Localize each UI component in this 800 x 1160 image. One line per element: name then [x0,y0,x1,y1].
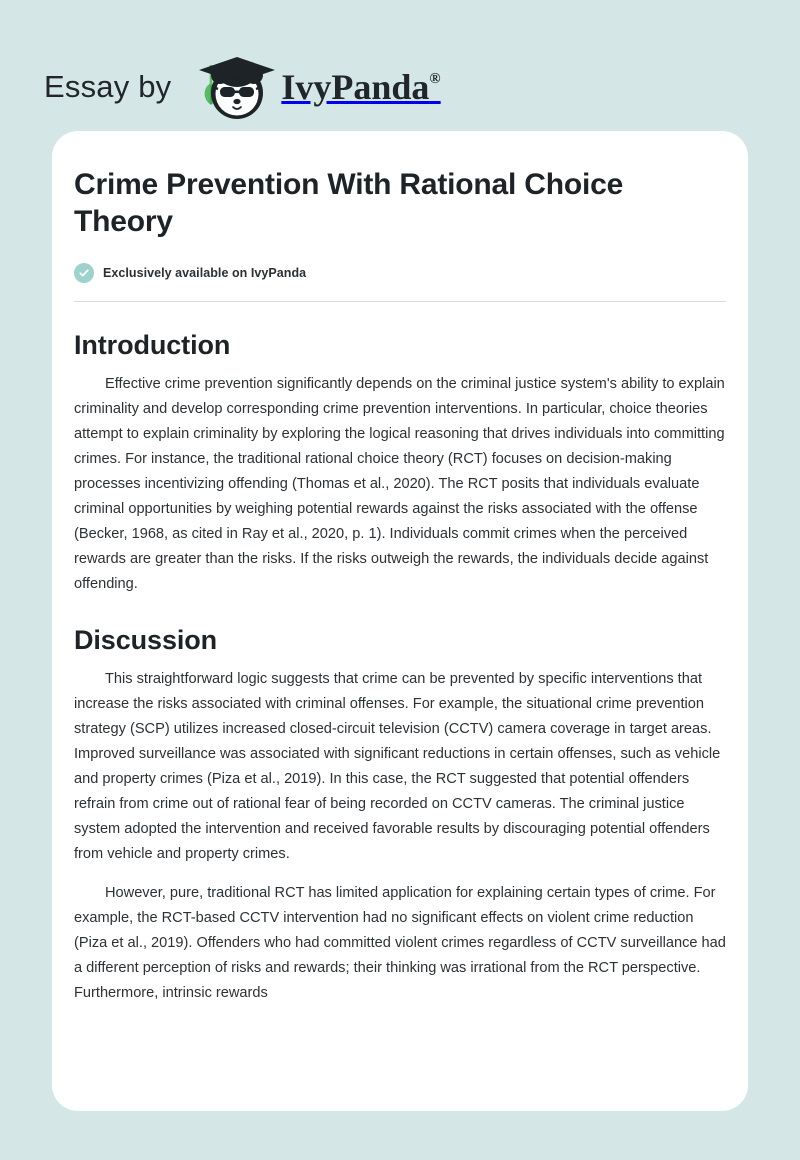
check-circle-icon [74,263,94,283]
paragraph: However, pure, traditional RCT has limit… [74,867,726,1006]
section-heading-discussion: Discussion [74,597,726,656]
exclusivity-label: Exclusively available on IvyPanda [103,266,306,280]
paragraph: This straightforward logic suggests that… [74,656,726,867]
section-heading-introduction: Introduction [74,302,726,361]
essay-by-label: Essay by [44,71,171,102]
essay-card: Crime Prevention With Rational Choice Th… [52,131,748,1111]
exclusivity-badge: Exclusively available on IvyPanda [74,263,726,283]
ivypanda-wordmark: IvyPanda® [281,69,440,105]
ivypanda-brand-link[interactable]: IvyPanda® [189,49,440,125]
registered-mark: ® [429,71,440,87]
site-header: Essay by [0,0,800,131]
panda-graduate-logo-icon [189,49,285,125]
page-title: Crime Prevention With Rational Choice Th… [74,131,726,240]
paragraph: Effective crime prevention significantly… [74,361,726,597]
